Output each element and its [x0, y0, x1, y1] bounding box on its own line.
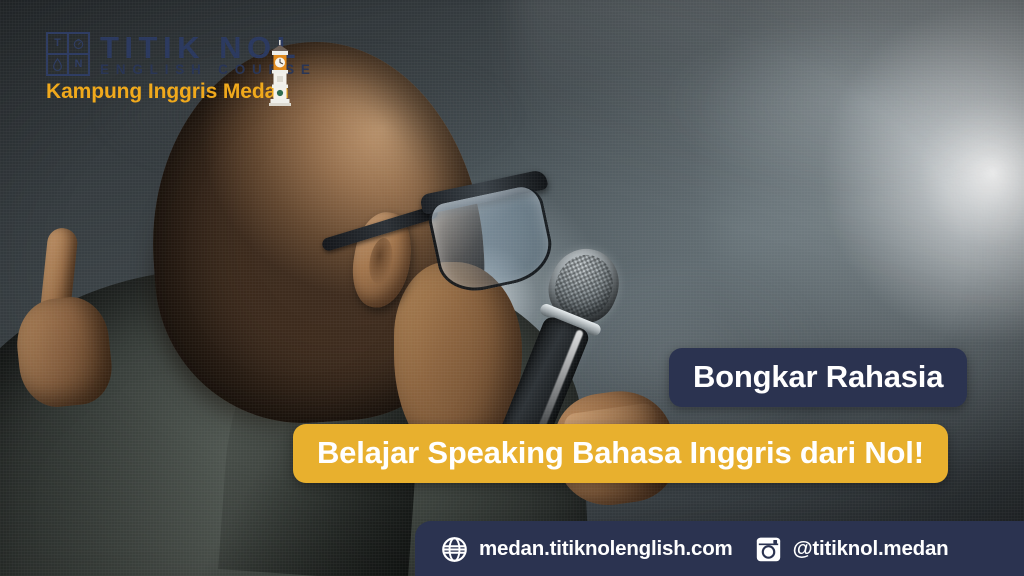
instagram-label: @titiknol.medan: [793, 539, 949, 560]
logo-cell-letter-t: T: [47, 33, 68, 54]
logo-grid-mark: T N: [46, 32, 90, 76]
logo-cell-compass-icon: [68, 33, 89, 54]
logo-cell-letter-n: N: [68, 54, 89, 75]
headline-line-1: Bongkar Rahasia: [693, 361, 943, 392]
globe-icon: [441, 536, 468, 563]
headline-line-2: Belajar Speaking Bahasa Inggris dari Nol…: [317, 437, 924, 468]
logo-cell-n-label: N: [75, 59, 83, 70]
clock-tower-icon: [263, 40, 297, 106]
contact-instagram[interactable]: @titiknol.medan: [755, 536, 949, 563]
instagram-icon: [755, 536, 782, 563]
contact-website[interactable]: medan.titiknolenglish.com: [441, 536, 733, 563]
logo-cell-t-label: T: [54, 38, 61, 49]
logo-cell-drop-icon: [47, 54, 68, 75]
headline-badge-secondary: Belajar Speaking Bahasa Inggris dari Nol…: [293, 424, 948, 483]
headline-badge-primary: Bongkar Rahasia: [669, 348, 967, 407]
promo-banner: T N TITI: [0, 0, 1024, 576]
hand-fist: [13, 293, 116, 410]
contact-bar: medan.titiknolenglish.com @titiknol.meda…: [415, 521, 1024, 576]
website-label: medan.titiknolenglish.com: [479, 539, 733, 560]
raised-hand: [18, 228, 114, 408]
